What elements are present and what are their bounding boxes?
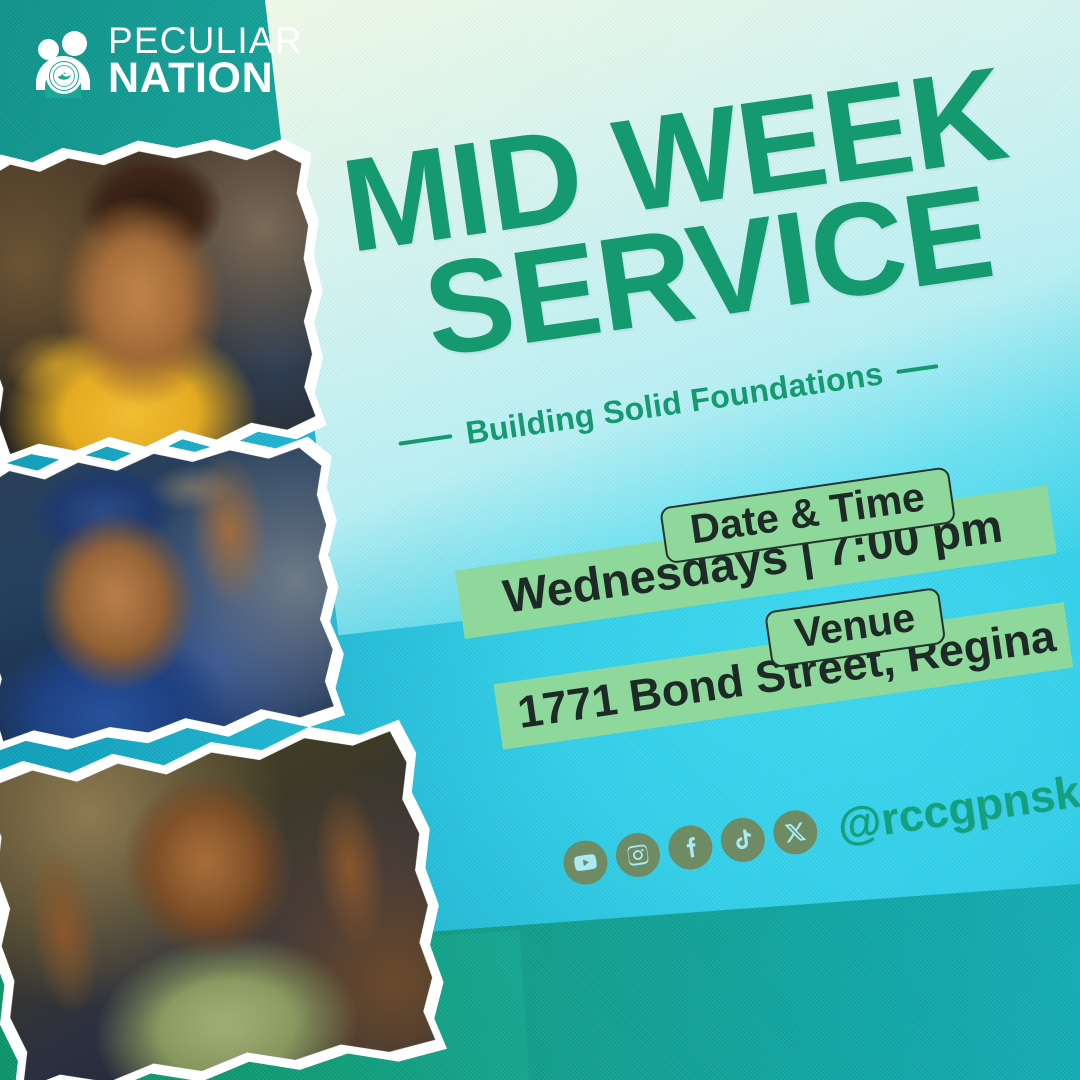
brand-name-line1: PECULIAR — [108, 24, 303, 58]
photo-image-3 — [0, 723, 445, 1080]
photo-image-2 — [0, 438, 342, 748]
photo-woman-blue-headwrap — [0, 426, 354, 760]
photo-frame-1 — [0, 142, 320, 458]
brand-wordmark: PECULIAR NATION — [108, 24, 303, 99]
photo-frame-3 — [0, 723, 445, 1080]
dove-icon — [56, 71, 73, 81]
photo-frame-2 — [0, 438, 342, 748]
flyer-canvas: PECULIAR NATION MID WEEK SERVICE Buildin… — [0, 0, 1080, 1080]
brand-logo: PECULIAR NATION — [36, 24, 303, 99]
photo-woman-yellow-worship — [0, 131, 332, 470]
logo-person-head-right — [62, 31, 87, 56]
tagline-rule-left — [398, 434, 452, 446]
peculiar-nation-logo-icon — [36, 28, 96, 94]
photo-boy-green-shirt — [0, 711, 457, 1080]
instagram-icon[interactable] — [613, 830, 663, 880]
tagline-rule-right — [896, 364, 938, 374]
x-twitter-icon[interactable] — [770, 807, 820, 857]
seal-ring-outer — [49, 61, 79, 91]
photo-image-1 — [0, 142, 320, 458]
brand-name-line2: NATION — [108, 59, 303, 99]
facebook-icon[interactable] — [665, 823, 715, 873]
youtube-icon[interactable] — [561, 838, 611, 888]
tiktok-icon[interactable] — [718, 815, 768, 865]
